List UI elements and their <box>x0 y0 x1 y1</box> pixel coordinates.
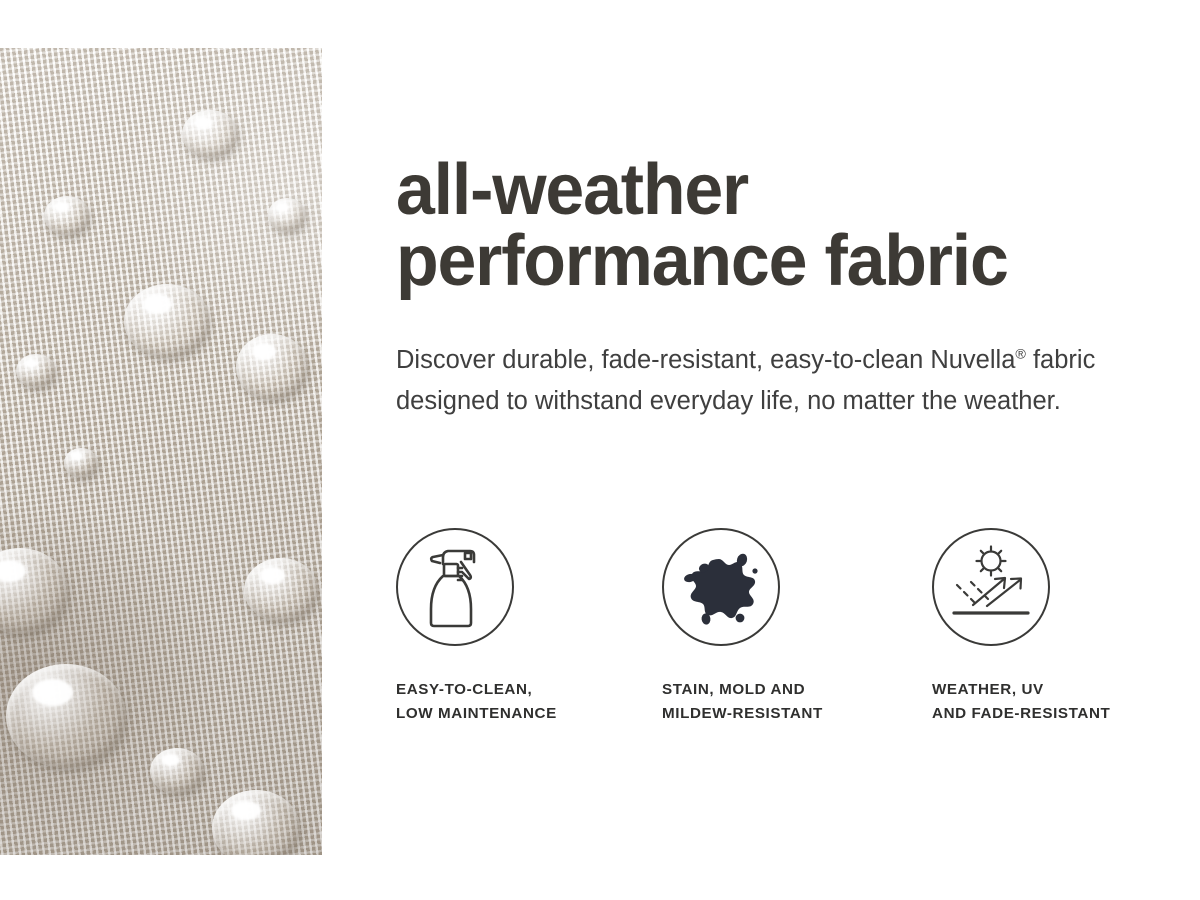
content-column: all-weatherperformance fabric Discover d… <box>396 0 1166 900</box>
water-droplet <box>182 110 238 158</box>
headline-line-2: performance fabric <box>396 221 1008 301</box>
water-droplet <box>268 198 306 232</box>
icon-circle-frame <box>396 528 514 646</box>
description-text: Discover durable, fade-resistant, easy-t… <box>396 340 1108 423</box>
icon-circle-frame <box>932 528 1050 646</box>
water-droplet <box>64 448 98 478</box>
water-droplet <box>6 664 126 768</box>
feature-label: STAIN, MOLD AND MILDEW-RESISTANT <box>662 678 912 725</box>
icon-circle-frame <box>662 528 780 646</box>
water-droplet <box>236 334 308 400</box>
sun-uv-reflect-icon <box>947 545 1035 629</box>
water-droplet <box>150 748 204 794</box>
water-droplet <box>44 196 90 236</box>
page-title: all-weatherperformance fabric <box>396 155 1133 298</box>
spray-bottle-icon <box>413 543 497 631</box>
water-droplet <box>124 284 210 358</box>
feature-item-stain-resistant: STAIN, MOLD AND MILDEW-RESISTANT <box>662 528 912 725</box>
water-droplet <box>244 558 318 622</box>
registered-trademark-symbol: ® <box>1015 347 1026 363</box>
description-part-1: Discover durable, fade-resistant, easy-t… <box>396 346 1015 374</box>
stain-splat-icon <box>678 547 764 627</box>
feature-item-weather-resistant: WEATHER, UV AND FADE-RESISTANT <box>932 528 1182 725</box>
feature-label: WEATHER, UV AND FADE-RESISTANT <box>932 678 1182 725</box>
fabric-photo <box>0 48 322 855</box>
infographic-page: all-weatherperformance fabric Discover d… <box>0 0 1200 900</box>
feature-item-easy-to-clean: EASY-TO-CLEAN, LOW MAINTENANCE <box>396 528 646 725</box>
water-droplet <box>16 354 56 388</box>
headline-line-1: all-weather <box>396 150 748 230</box>
feature-label: EASY-TO-CLEAN, LOW MAINTENANCE <box>396 678 646 725</box>
